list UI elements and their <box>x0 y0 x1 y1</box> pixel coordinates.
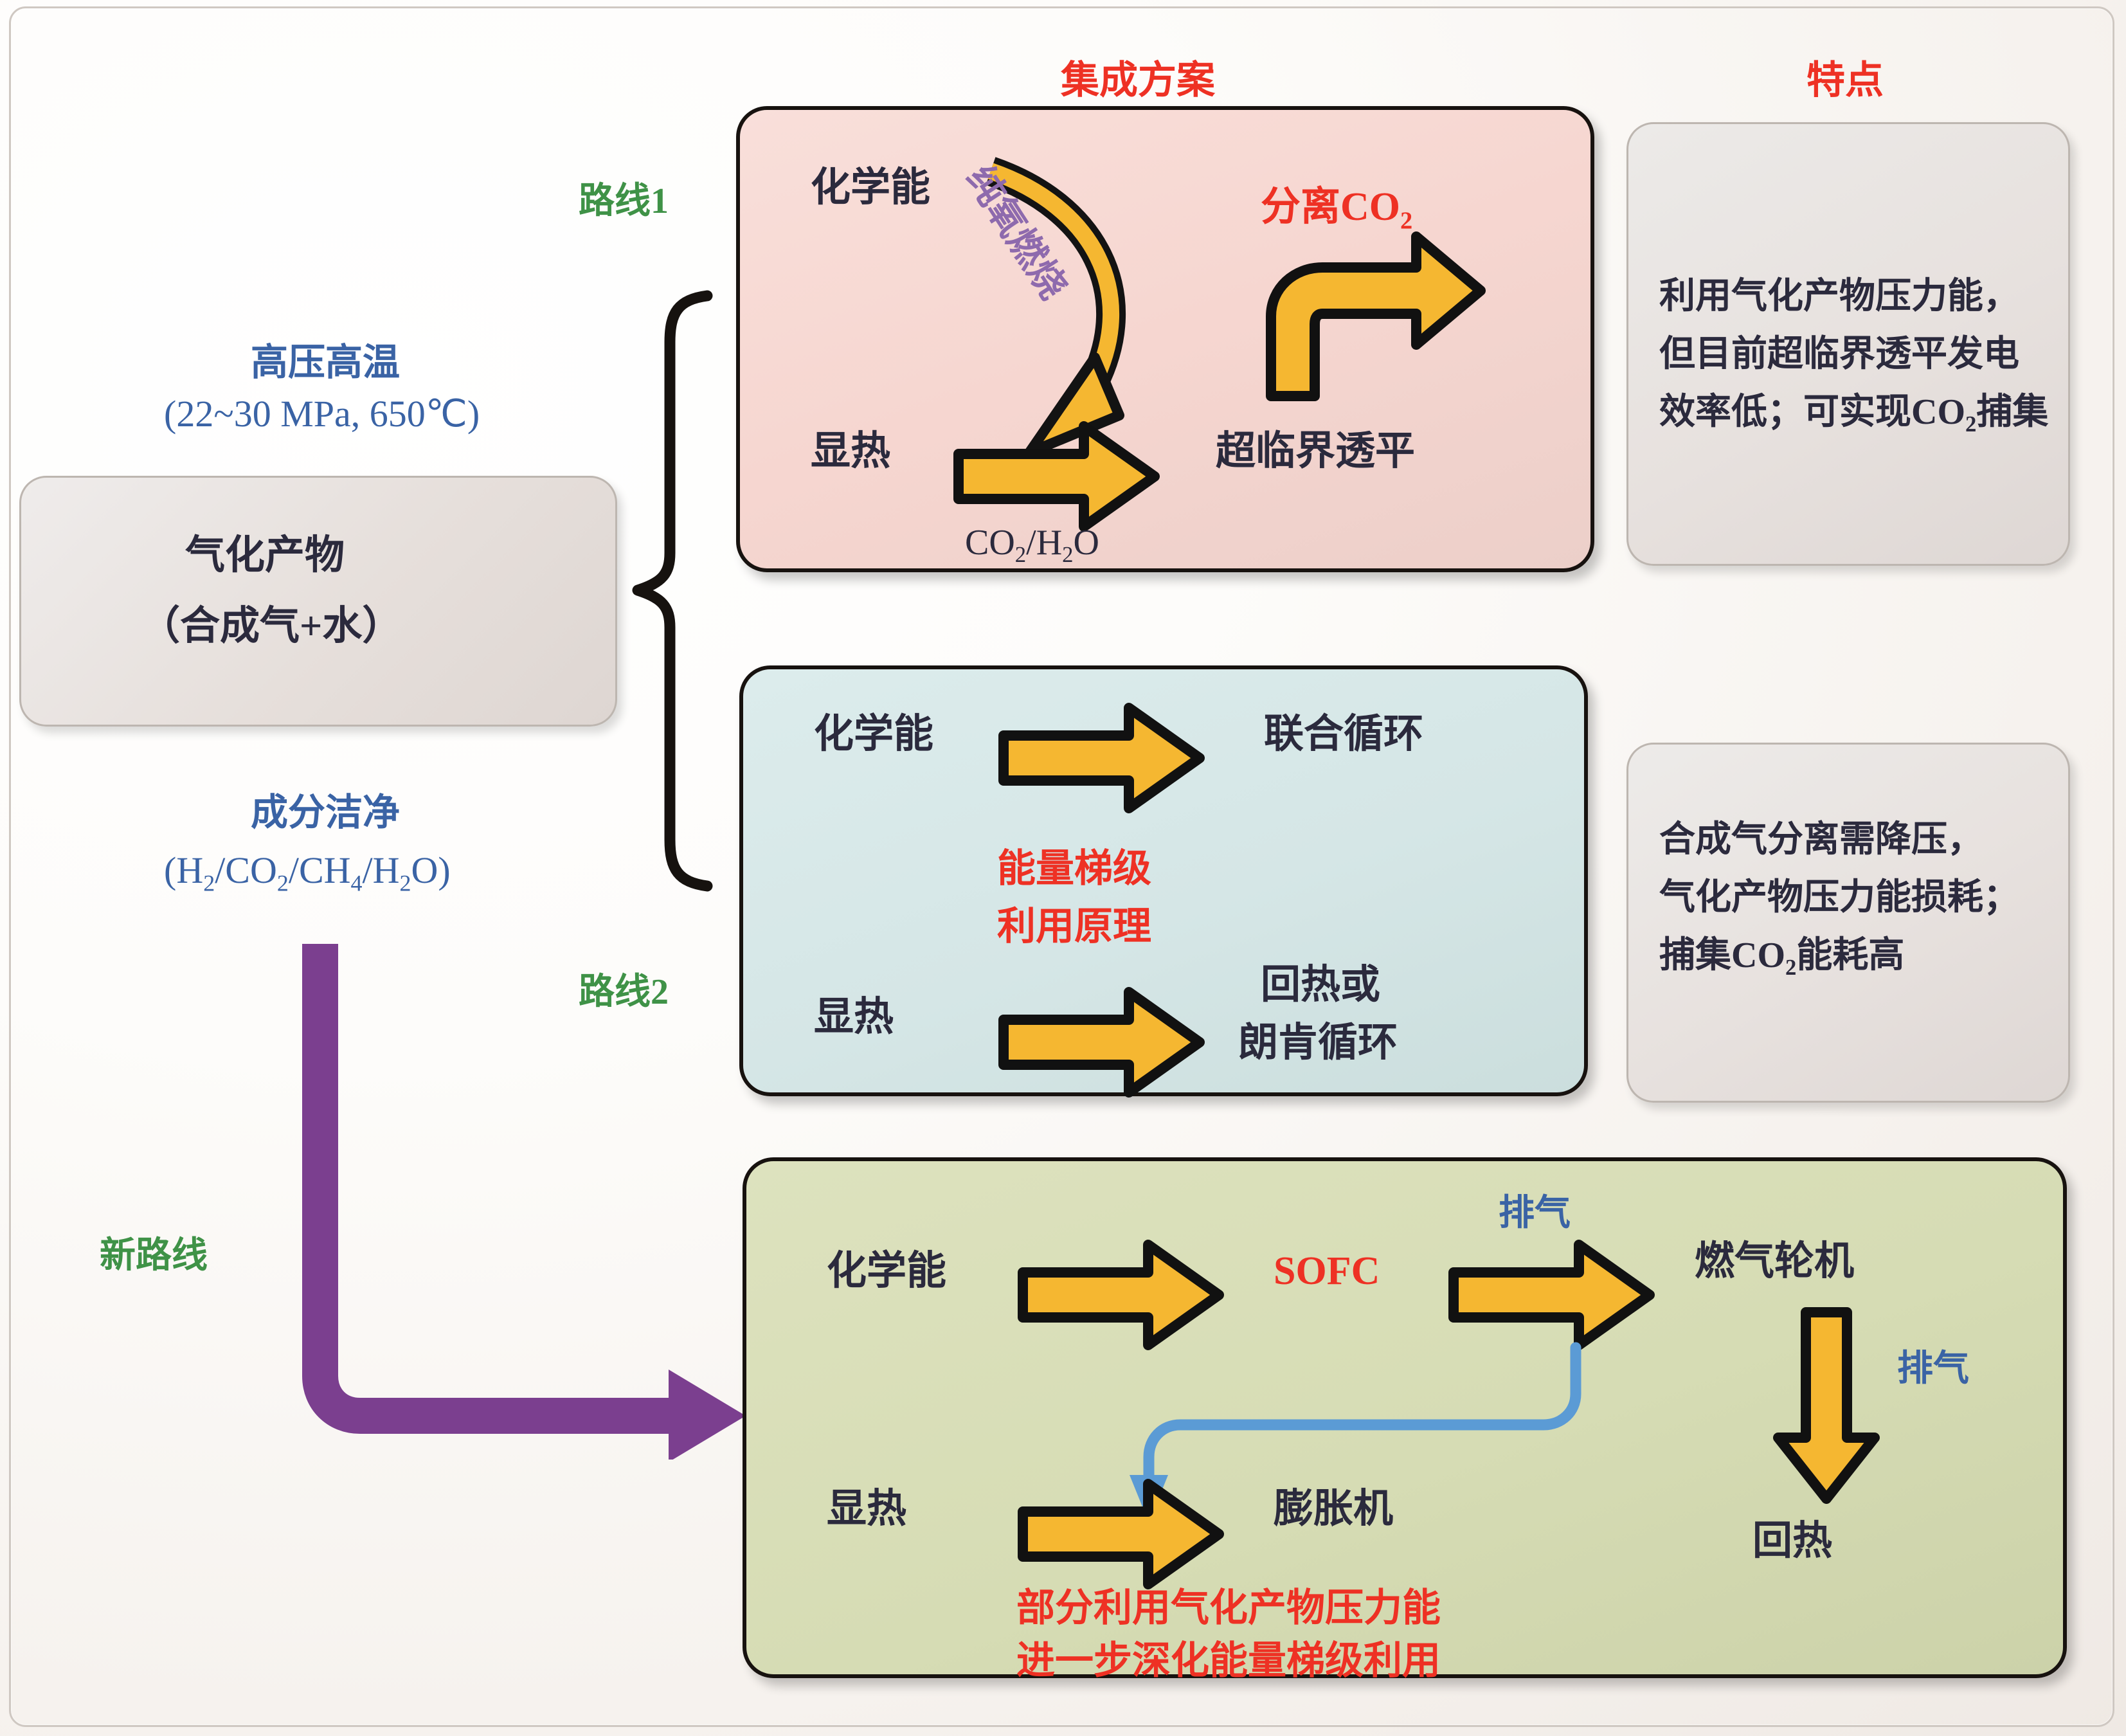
condition-temp-pressure-line2: (22~30 MPa, 650℃) <box>164 392 480 436</box>
route3-regeneration: 回热 <box>1752 1518 1832 1565</box>
feature1-line3: 效率低；可实现CO2捕集 <box>1659 391 2048 438</box>
route2-output-line2: 朗肯循环 <box>1238 1020 1398 1067</box>
feature-box-route1: 利用气化产物压力能， 但目前超临界透平发电 效率低；可实现CO2捕集 <box>1626 122 2070 566</box>
route3-note-line2: 进一步深化能量梯级利用 <box>1016 1638 1441 1684</box>
feature2-line1: 合成气分离需降压， <box>1659 818 1983 861</box>
route1-label: 路线1 <box>579 180 669 222</box>
route2-sensible-heat-arrow-icon <box>997 984 1206 1100</box>
route3-note-line1: 部分利用气化产物压力能 <box>1016 1586 1441 1631</box>
route1-sensible-heat: 显热 <box>811 428 890 475</box>
route1-panel: 化学能 纯氧燃烧 分离CO2 显热 CO2/H2O 超临界透平 <box>736 106 1594 572</box>
route2-panel: 化学能 联合循环 能量梯级 利用原理 显热 回热或 朗肯循环 <box>739 665 1588 1096</box>
route2-output-line1: 回热或 <box>1261 962 1380 1009</box>
co2-separation-bent-arrow-icon <box>1248 229 1492 402</box>
feature1-line1: 利用气化产物压力能， <box>1659 275 2019 318</box>
feature-box-route2: 合成气分离需降压， 气化产物压力能损耗； 捕集CO2能耗高 <box>1626 743 2070 1103</box>
source-box-line1: 气化产物 <box>185 532 345 579</box>
route3-exhaust-right-label: 排气 <box>1897 1348 1969 1390</box>
route1-working-fluid-label: CO2/H2O <box>965 521 1099 568</box>
diagram-canvas: 集成方案 特点 高压高温 (22~30 MPa, 650℃) 气化产物 （合成气… <box>0 0 2126 1736</box>
route2-principle-line2: 利用原理 <box>997 904 1151 950</box>
route3-chemical-energy: 化学能 <box>827 1248 946 1295</box>
route2-chemical-energy-arrow-icon <box>997 700 1206 816</box>
route2-chemical-energy: 化学能 <box>814 711 933 758</box>
route1-supercritical-turbine: 超临界透平 <box>1216 428 1415 475</box>
route2-combined-cycle: 联合循环 <box>1264 711 1423 758</box>
feature1-line2: 但目前超临界透平发电 <box>1659 333 2019 375</box>
route1-separate-co2-label: 分离CO2 <box>1261 184 1412 236</box>
route3-sensible-heat-arrow-icon <box>1016 1476 1225 1592</box>
route3-exhaust-top-label: 排气 <box>1499 1192 1571 1234</box>
integration-column-title: 集成方案 <box>1061 58 1215 104</box>
source-box-line2: （合成气+水） <box>140 603 402 650</box>
route1-chemical-energy: 化学能 <box>811 165 930 212</box>
route3-expander: 膨胀机 <box>1274 1486 1393 1533</box>
route3-gas-turbine: 燃气轮机 <box>1695 1238 1854 1285</box>
composition-line2: (H2/CO2/CH4/H2O) <box>164 849 451 897</box>
route3-sensible-heat: 显热 <box>827 1486 906 1533</box>
new-route-label: 新路线 <box>100 1234 208 1277</box>
route3-gasturbine-exhaust-arrow-icon <box>1769 1306 1884 1505</box>
feature2-line2: 气化产物压力能损耗； <box>1659 876 2019 919</box>
route1-sensible-heat-arrow-icon <box>952 419 1161 534</box>
condition-temp-pressure-line1: 高压高温 <box>251 341 400 384</box>
features-column-title: 特点 <box>1806 58 1884 104</box>
feature2-line3: 捕集CO2能耗高 <box>1659 934 1904 981</box>
route3-panel: 化学能 SOFC 排气 燃气轮机 排气 回热 显热 膨胀机 部分利用气化产物压力… <box>743 1157 2067 1678</box>
route3-sofc-label: SOFC <box>1274 1248 1380 1295</box>
source-box: 气化产物 （合成气+水） <box>19 476 617 727</box>
route2-sensible-heat: 显热 <box>814 994 894 1041</box>
composition-line1: 成分洁净 <box>251 791 400 835</box>
new-route-purple-arrow-icon <box>270 926 759 1460</box>
route2-principle-line1: 能量梯级 <box>997 846 1151 892</box>
